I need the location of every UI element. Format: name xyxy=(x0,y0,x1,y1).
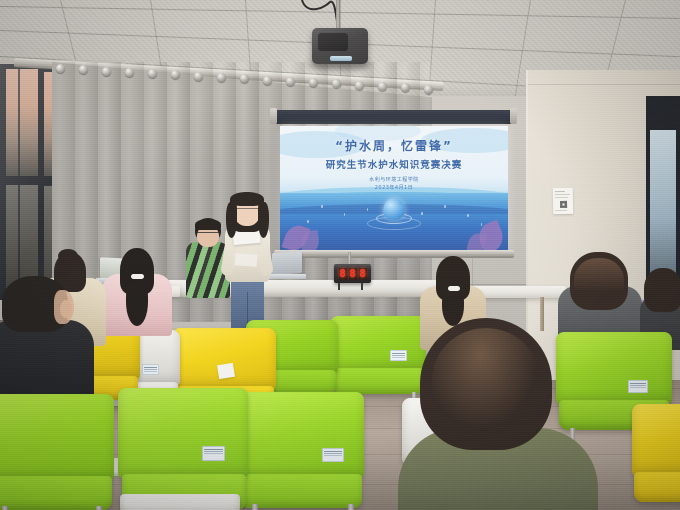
projector-mount-pole xyxy=(336,0,340,30)
curtain-eyelet xyxy=(102,67,111,76)
curtain-eyelet xyxy=(194,72,203,81)
curtain-eyelet xyxy=(378,82,387,91)
hair-clip-icon xyxy=(448,286,460,291)
presenter-standing xyxy=(222,192,272,340)
screen-surface: “护水周，忆雷锋” 研究生节水护水知识竞赛决赛 水利与环境工程学院 2023年4… xyxy=(280,126,508,250)
person-face-edge xyxy=(54,290,74,324)
audience-pink-jacket xyxy=(102,248,172,334)
presenter-laptop-screen[interactable] xyxy=(272,251,302,275)
hair-sheen xyxy=(432,328,540,432)
slide-title: “护水周，忆雷锋” xyxy=(280,137,508,154)
screen-housing xyxy=(276,110,512,124)
hair-clip-icon xyxy=(131,274,144,279)
ponytail xyxy=(126,278,148,326)
slide-organization: 水利与环境工程学院 xyxy=(280,176,508,183)
paper-on-chair xyxy=(217,363,235,379)
presentation-papers-2 xyxy=(235,253,258,267)
projector-lens xyxy=(318,33,348,51)
projection-screen[interactable]: “护水周，忆雷锋” 研究生节水护水知识竞赛决赛 水利与环境工程学院 2023年4… xyxy=(276,110,512,260)
timer-digit: 8 xyxy=(339,268,347,280)
slide-subtitle: 研究生节水护水知识竞赛决赛 xyxy=(280,157,508,171)
curtain-eyelet xyxy=(355,81,364,90)
presentation-slide: “护水周，忆雷锋” 研究生节水护水知识竞赛决赛 水利与环境工程学院 2023年4… xyxy=(280,126,508,250)
wall-notice-sign xyxy=(553,188,573,214)
curtain-eyelet xyxy=(424,85,433,94)
curtain-eyelet xyxy=(217,73,226,82)
glasses-icon xyxy=(235,208,259,214)
curtain-eyelet xyxy=(125,68,134,77)
audience-olive-shirt xyxy=(398,318,598,510)
curtain-eyelet xyxy=(56,64,65,73)
person-hair-side xyxy=(258,202,269,238)
curtain-eyelet xyxy=(263,76,272,85)
timer-digit: 8 xyxy=(359,268,367,280)
person-hair xyxy=(644,268,680,312)
person-hair-side xyxy=(226,202,237,238)
classroom-photo: “护水周，忆雷锋” 研究生节水护水知识竞赛决赛 水利与环境工程学院 2023年4… xyxy=(0,0,680,510)
glasses-icon xyxy=(197,232,219,238)
person-fringe xyxy=(195,219,221,230)
timer-digit: 8 xyxy=(349,268,357,280)
water-droplet-icon xyxy=(383,198,405,220)
countdown-timer[interactable]: 8 8 8 xyxy=(334,264,371,283)
curtain-eyelet xyxy=(286,77,295,86)
hair-highlight xyxy=(574,258,624,306)
hair-bun xyxy=(58,249,78,263)
qr-code-icon xyxy=(560,201,567,208)
projector-indicator xyxy=(330,56,352,61)
presenter-laptop-base[interactable] xyxy=(268,274,306,279)
slide-date: 2023年4月1日 xyxy=(280,184,508,191)
right-window xyxy=(646,96,680,286)
